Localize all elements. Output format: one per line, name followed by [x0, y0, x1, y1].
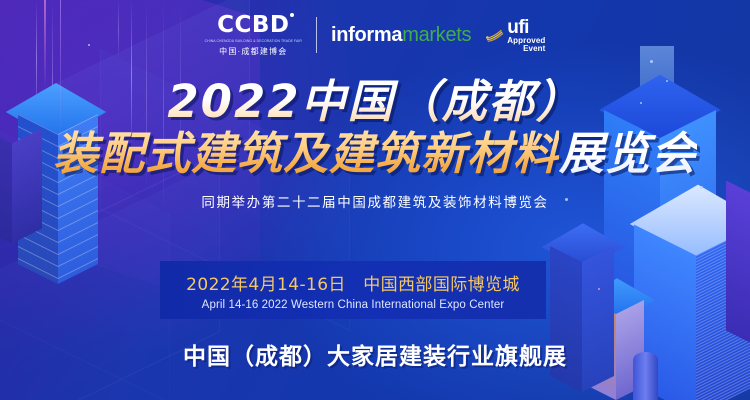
- date-venue-chinese: 2022年4月14-16日 中国西部国际博览城: [186, 270, 520, 295]
- date-venue-band: 2022年4月14-16日 中国西部国际博览城 April 14-16 2022…: [160, 261, 546, 319]
- ufi-wing-icon: [485, 27, 505, 43]
- bg-building-right-mid: [548, 230, 618, 400]
- headline-line-2-white: 展览会: [559, 127, 697, 180]
- informa-text: informa: [331, 24, 402, 46]
- headline-subtitle: 同期举办第二十二届中国成都建筑及装饰材料博览会: [0, 191, 750, 211]
- headline-line-2: 装配式建筑及建筑新材料展览会: [0, 129, 750, 179]
- ufi-event-text: Event: [507, 45, 545, 53]
- ccbd-wordmark-text: CCBD: [217, 12, 289, 38]
- logo-divider: [316, 17, 317, 53]
- ufi-logo[interactable]: ufi Approved Event: [485, 18, 545, 53]
- headline-line-1: 2022中国（成都）: [0, 78, 750, 127]
- logo-bar: CCBD CHINA CHENGDU BUILDING & DECORATION…: [0, 14, 750, 57]
- bg-sparkle: [650, 60, 653, 63]
- date-venue-english: April 14-16 2022 Western China Internati…: [202, 299, 505, 311]
- headline-line-2-gold: 装配式建筑及建筑新材料: [53, 127, 559, 180]
- bottom-tagline: 中国（成都）大家居建装行业旗舰展: [0, 337, 750, 371]
- ccbd-dot-icon: [290, 13, 294, 17]
- ccbd-wordmark: CCBD: [217, 14, 289, 37]
- ccbd-chinese-text: 中国·成都建博会: [219, 46, 287, 57]
- markets-text: markets: [402, 24, 471, 46]
- informa-markets-logo[interactable]: informamarkets: [331, 25, 471, 45]
- headline-block: 2022中国（成都） 装配式建筑及建筑新材料展览会 同期举办第二十二届中国成都建…: [0, 78, 750, 211]
- expo-banner: CCBD CHINA CHENGDU BUILDING & DECORATION…: [0, 0, 750, 400]
- bg-sparkle: [598, 288, 600, 290]
- ccbd-english-text: CHINA CHENGDU BUILDING & DECORATION TRAD…: [205, 39, 302, 44]
- ccbd-logo[interactable]: CCBD CHINA CHENGDU BUILDING & DECORATION…: [205, 14, 302, 57]
- ufi-wordmark: ufi: [507, 17, 529, 38]
- ufi-text-block: ufi Approved Event: [507, 18, 545, 53]
